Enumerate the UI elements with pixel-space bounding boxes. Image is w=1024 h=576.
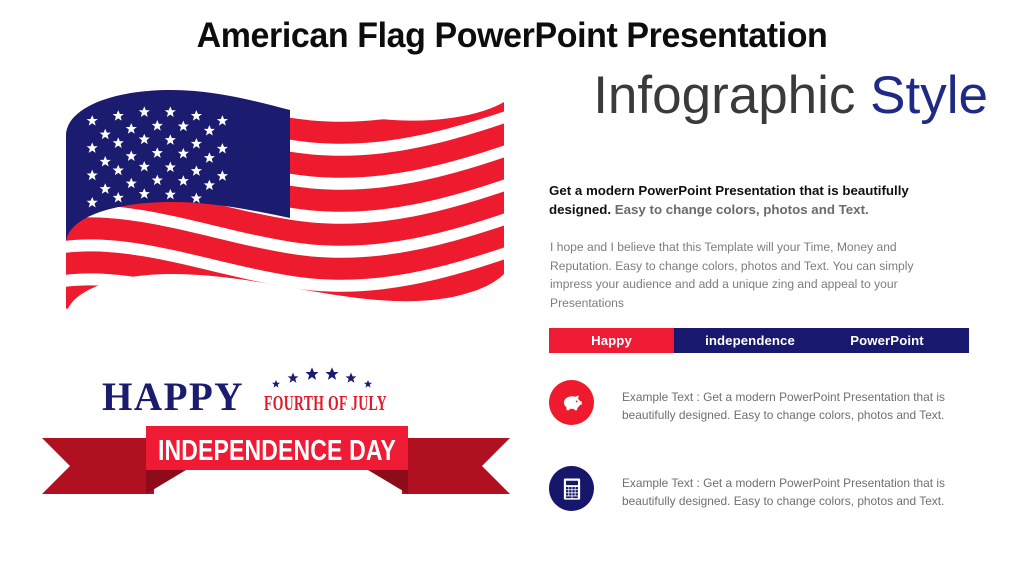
banner-happy-text: HAPPY <box>102 374 244 419</box>
banner-fourth-of-july-text: FOURTH OF JULY <box>264 391 387 415</box>
feature-text-1: Example Text : Get a modern PowerPoint P… <box>622 388 962 424</box>
piggy-bank-icon[interactable] <box>549 380 594 425</box>
feature-item-1[interactable]: Example Text : Get a modern PowerPoint P… <box>549 380 969 425</box>
ribbon-label: INDEPENDENCE DAY <box>158 435 396 467</box>
tag-button-powerpoint[interactable]: PowerPoint <box>828 328 946 353</box>
tag-button-group: Happy independence PowerPoint <box>549 328 969 353</box>
american-flag-illustration <box>52 78 507 398</box>
lead-muted-text: Easy to change colors, photos and Text. <box>615 202 869 217</box>
piggy-bank-glyph <box>558 389 586 417</box>
banner-stars <box>272 367 372 387</box>
feature-text-2: Example Text : Get a modern PowerPoint P… <box>622 474 962 510</box>
presentation-slide: American Flag PowerPoint Presentation In… <box>0 0 1024 576</box>
feature-item-2[interactable]: Example Text : Get a modern PowerPoint P… <box>549 466 969 511</box>
page-title: American Flag PowerPoint Presentation <box>15 16 1008 56</box>
body-paragraph: I hope and I believe that this Template … <box>550 238 950 313</box>
tag-button-independence[interactable]: independence <box>690 328 810 353</box>
subtitle-part-style: Style <box>870 66 988 125</box>
ribbon-folds <box>146 470 408 494</box>
independence-day-banner: HAPPY FOURTH OF JULY INDEPENDENCE DAY <box>36 362 516 522</box>
tag-button-happy[interactable]: Happy <box>549 328 674 353</box>
calculator-icon[interactable] <box>549 466 594 511</box>
subtitle: Infographic Style <box>528 68 988 124</box>
lead-paragraph: Get a modern PowerPoint Presentation tha… <box>549 182 960 220</box>
subtitle-part-infographic: Infographic <box>593 66 870 125</box>
calculator-glyph <box>559 476 585 502</box>
